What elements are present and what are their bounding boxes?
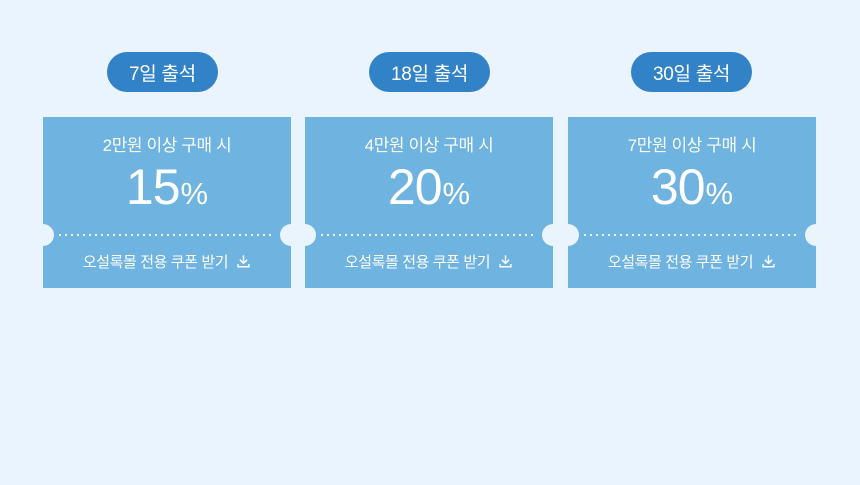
attendance-badge-label: 18일 출석 [391, 59, 468, 86]
coupon-card[interactable]: 7만원 이상 구매 시 30 % 오설록몰 전용 쿠폰 받기 [568, 117, 816, 288]
coupon-card[interactable]: 2만원 이상 구매 시 15 % 오설록몰 전용 쿠폰 받기 [43, 117, 291, 288]
attendance-badge-label: 30일 출석 [653, 59, 730, 86]
coupon-discount-number: 20 [388, 162, 442, 212]
download-icon [236, 254, 251, 269]
coupon-discount-percent-sign: % [443, 178, 471, 209]
coupon-discount-number: 30 [651, 162, 705, 212]
coupon-condition-text: 4만원 이상 구매 시 [365, 137, 494, 154]
coupon-discount-rate: 15 % [126, 162, 208, 212]
coupon-discount-number: 15 [126, 162, 180, 212]
attendance-badge-30day: 30일 출석 [631, 52, 752, 92]
coupon-discount-rate: 30 % [651, 162, 733, 212]
coupon-card-body: 2만원 이상 구매 시 15 % 오설록몰 전용 쿠폰 받기 [43, 117, 291, 288]
download-icon [498, 254, 513, 269]
coupon-action-area: 오설록몰 전용 쿠폰 받기 [568, 235, 816, 288]
coupon-list: 7일 출석 18일 출석 30일 출석 2만원 이상 구매 시 15 % 오설록… [0, 0, 860, 485]
download-coupon-label: 오설록몰 전용 쿠폰 받기 [608, 251, 753, 272]
download-coupon-button[interactable]: 오설록몰 전용 쿠폰 받기 [608, 251, 776, 272]
coupon-card[interactable]: 4만원 이상 구매 시 20 % 오설록몰 전용 쿠폰 받기 [305, 117, 553, 288]
coupon-card-body: 4만원 이상 구매 시 20 % 오설록몰 전용 쿠폰 받기 [305, 117, 553, 288]
download-coupon-button[interactable]: 오설록몰 전용 쿠폰 받기 [345, 251, 513, 272]
coupon-action-area: 오설록몰 전용 쿠폰 받기 [43, 235, 291, 288]
download-coupon-label: 오설록몰 전용 쿠폰 받기 [83, 251, 228, 272]
coupon-discount-percent-sign: % [181, 178, 209, 209]
attendance-badge-18day: 18일 출석 [369, 52, 490, 92]
attendance-badge-7day: 7일 출석 [107, 52, 218, 92]
coupon-discount-area: 2만원 이상 구매 시 15 % [43, 117, 291, 235]
download-coupon-label: 오설록몰 전용 쿠폰 받기 [345, 251, 490, 272]
coupon-condition-text: 7만원 이상 구매 시 [628, 137, 757, 154]
coupon-discount-rate: 20 % [388, 162, 470, 212]
coupon-card-body: 7만원 이상 구매 시 30 % 오설록몰 전용 쿠폰 받기 [568, 117, 816, 288]
coupon-action-area: 오설록몰 전용 쿠폰 받기 [305, 235, 553, 288]
coupon-discount-area: 4만원 이상 구매 시 20 % [305, 117, 553, 235]
coupon-discount-percent-sign: % [706, 178, 734, 209]
download-coupon-button[interactable]: 오설록몰 전용 쿠폰 받기 [83, 251, 251, 272]
coupon-condition-text: 2만원 이상 구매 시 [103, 137, 232, 154]
attendance-badge-label: 7일 출석 [129, 59, 196, 86]
coupon-discount-area: 7만원 이상 구매 시 30 % [568, 117, 816, 235]
download-icon [761, 254, 776, 269]
